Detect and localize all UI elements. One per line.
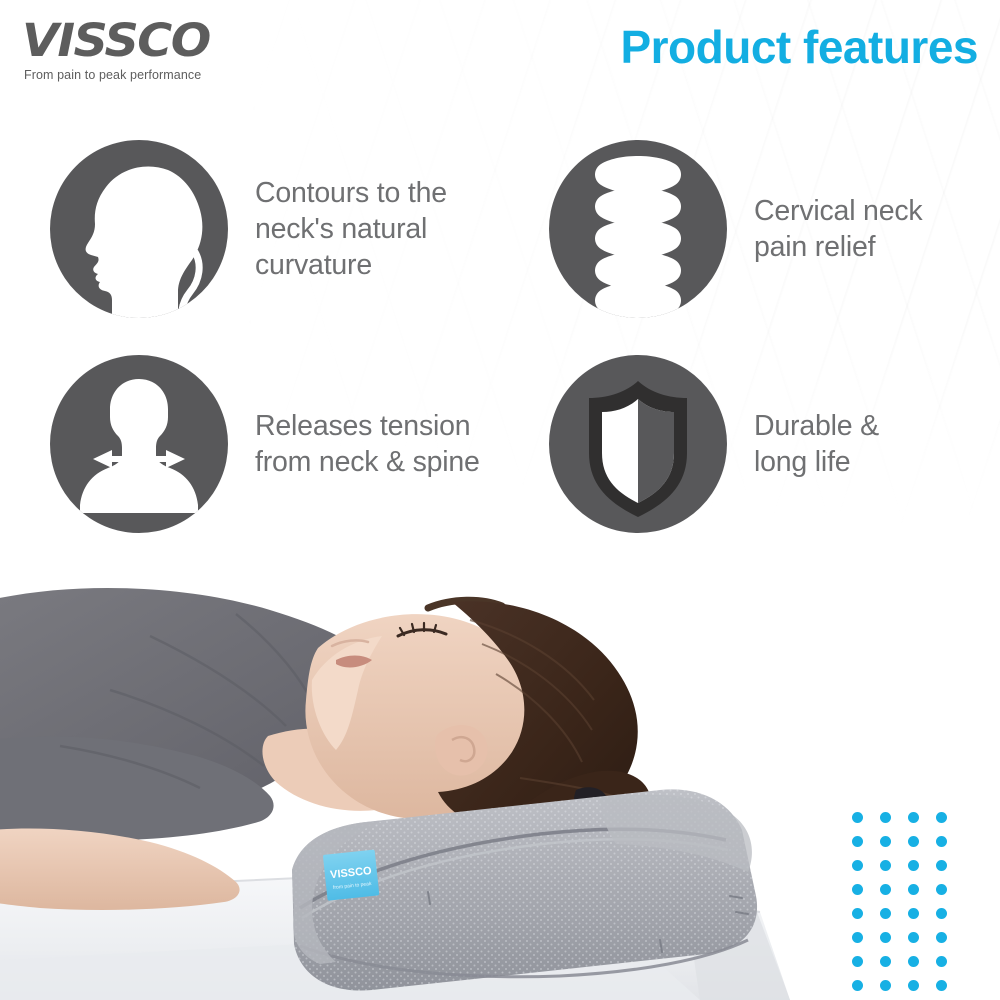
feature-list: Contours to the neck's natural curvature…: [0, 133, 1000, 533]
decorative-dot: [852, 956, 863, 967]
decorative-dot: [852, 908, 863, 919]
decorative-dot: [852, 884, 863, 895]
decorative-dot: [908, 884, 919, 895]
page-title: Product features: [620, 22, 978, 73]
decorative-dot: [880, 932, 891, 943]
head-profile-icon: [50, 140, 228, 318]
feature-label: Releases tension from neck & spine: [255, 408, 480, 480]
decorative-dot: [936, 908, 947, 919]
decorative-dot: [908, 932, 919, 943]
decorative-dot: [880, 956, 891, 967]
decorative-dot: [936, 932, 947, 943]
decorative-dot: [852, 932, 863, 943]
feature-item-releases-tension: Releases tension from neck & spine: [50, 355, 530, 533]
decorative-dot: [908, 860, 919, 871]
decorative-dot: [852, 836, 863, 847]
person-tension-arrows-icon: [50, 355, 228, 533]
decorative-dot: [936, 980, 947, 991]
decorative-dot: [908, 812, 919, 823]
decorative-dot: [880, 884, 891, 895]
decorative-dot: [908, 836, 919, 847]
decorative-dot: [908, 908, 919, 919]
decorative-dot: [880, 860, 891, 871]
decorative-dot: [852, 980, 863, 991]
decorative-dot: [936, 860, 947, 871]
decorative-dot: [880, 836, 891, 847]
brand-name: VISSCO: [22, 18, 382, 63]
feature-label: Cervical neck pain relief: [754, 193, 922, 265]
woman-lying-on-cervical-pillow-photo: VISSCO from pain to peak: [0, 540, 1000, 1000]
decorative-dot: [936, 812, 947, 823]
decorative-dot: [936, 884, 947, 895]
brand-logo: VISSCO From pain to peak performance: [22, 18, 362, 82]
cervical-spine-icon: [549, 140, 727, 318]
feature-item-contours: Contours to the neck's natural curvature: [50, 140, 510, 318]
decorative-dot: [852, 812, 863, 823]
decorative-dot: [908, 956, 919, 967]
feature-label: Durable & long life: [754, 408, 879, 480]
decorative-dot: [908, 980, 919, 991]
feature-label: Contours to the neck's natural curvature: [255, 175, 447, 284]
feature-item-pain-relief: Cervical neck pain relief: [549, 140, 989, 318]
decorative-dot: [936, 836, 947, 847]
decorative-dot: [880, 980, 891, 991]
decorative-dot: [880, 908, 891, 919]
decorative-dot-grid: [852, 812, 964, 1000]
infographic-canvas: VISSCO From pain to peak performance Pro…: [0, 0, 1000, 1000]
feature-item-durable: Durable & long life: [549, 355, 989, 533]
decorative-dot: [880, 812, 891, 823]
brand-tagline: From pain to peak performance: [24, 68, 362, 82]
decorative-dot: [936, 956, 947, 967]
decorative-dot: [852, 860, 863, 871]
shield-icon: [549, 355, 727, 533]
